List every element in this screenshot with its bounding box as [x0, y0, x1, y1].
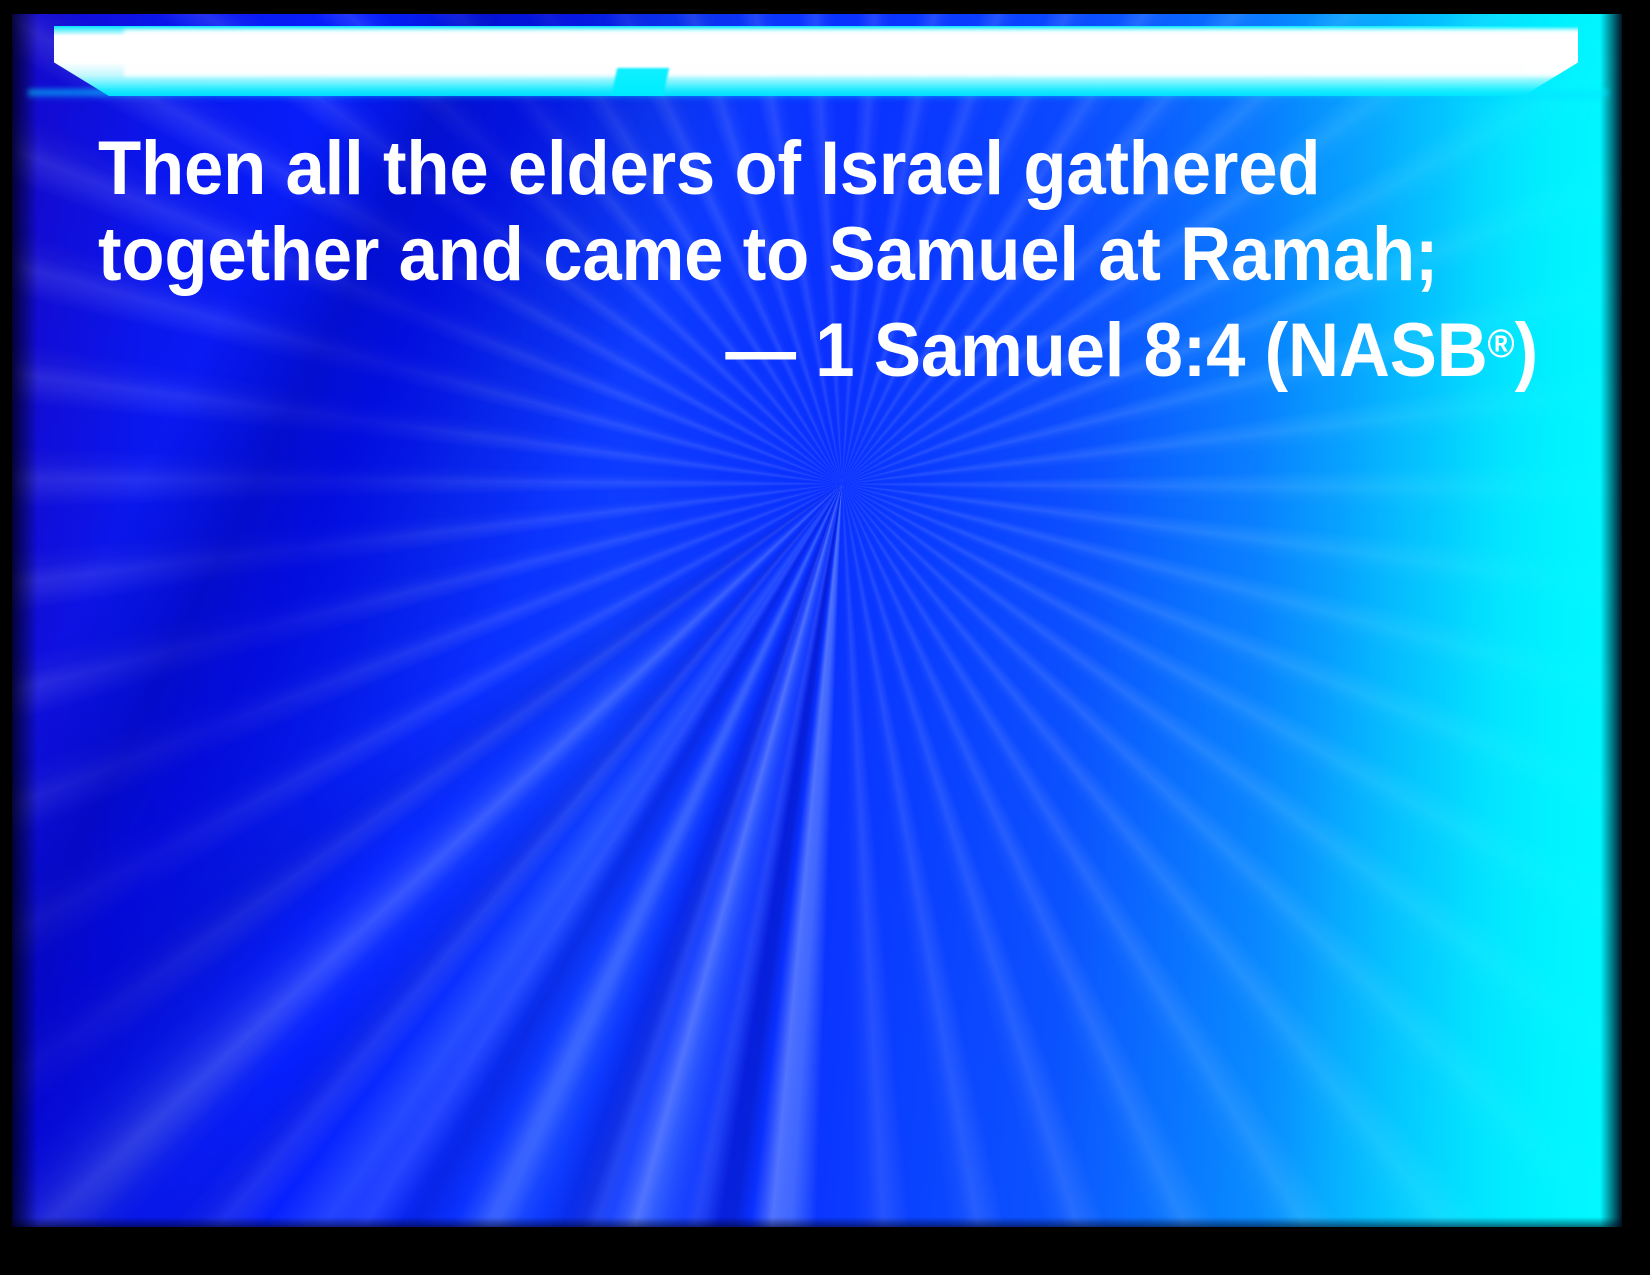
verse-text-block: Then all the elders of Israel gathered t…	[98, 126, 1538, 397]
registered-trademark-icon: ®	[1488, 322, 1515, 366]
verse-line-1: Then all the elders of Israel gathered	[98, 126, 1437, 212]
citation-translation-open: (NASB	[1265, 308, 1488, 393]
citation-translation-close: )	[1515, 308, 1538, 393]
verse-slide: Then all the elders of Israel gathered t…	[0, 0, 1650, 1275]
verse-line-2: together and came to Samuel at Ramah;	[98, 212, 1437, 298]
citation-spacer-2	[1245, 308, 1264, 393]
citation-em-dash: —	[725, 308, 796, 393]
citation-reference: 1 Samuel 8:4	[815, 308, 1245, 393]
slide-artwork-canvas: Then all the elders of Israel gathered t…	[12, 14, 1622, 1227]
verse-citation: — 1 Samuel 8:4 (NASB®)	[199, 298, 1538, 397]
citation-spacer-1	[796, 308, 815, 393]
